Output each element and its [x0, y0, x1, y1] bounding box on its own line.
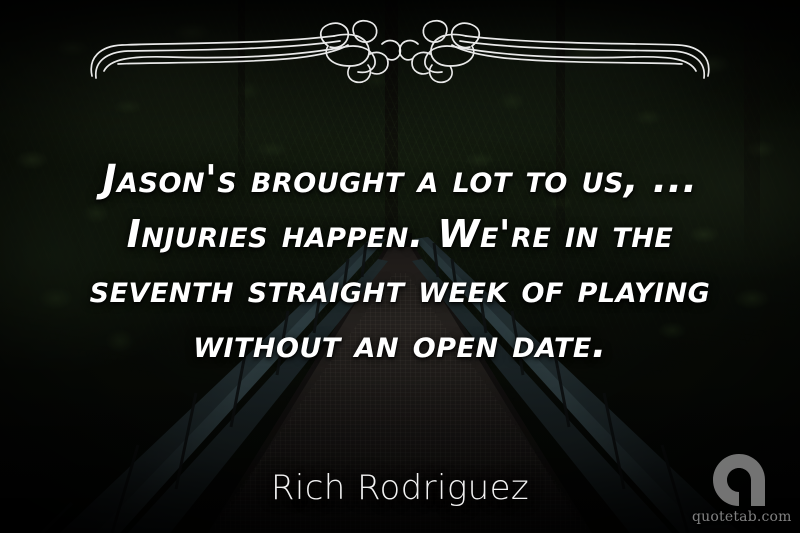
quote-line: seventh straight week of playing [50, 262, 750, 317]
decorative-flourish-icon [82, 14, 718, 86]
quote-line: Injuries happen. We're in the [50, 207, 750, 262]
quote-line: without an open date. [50, 317, 750, 372]
quotetab-q-logo-icon [692, 452, 788, 508]
watermark[interactable]: quotetab.com [692, 452, 788, 525]
author-name: Rich Rodriguez [0, 468, 800, 508]
watermark-site-label: quotetab.com [692, 509, 788, 525]
quote-card: Jason's brought a lot to us, ... Injurie… [0, 0, 800, 533]
quote-line: Jason's brought a lot to us, ... [50, 152, 750, 207]
quote-text: Jason's brought a lot to us, ... Injurie… [50, 152, 750, 372]
card-content: Jason's brought a lot to us, ... Injurie… [0, 0, 800, 533]
